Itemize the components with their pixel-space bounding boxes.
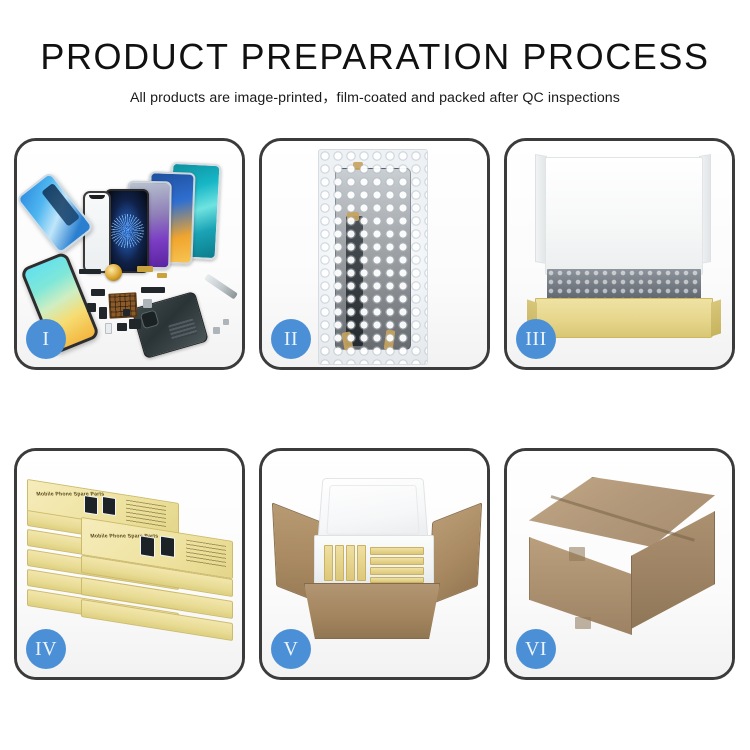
notch-icon	[89, 195, 105, 199]
page-title: PRODUCT PREPARATION PROCESS	[0, 38, 750, 76]
step-badge-2: II	[271, 319, 311, 359]
box-label-screen-thumb	[102, 496, 116, 516]
phone-screen-b-icon	[105, 189, 149, 273]
kraft-box-base-icon	[535, 298, 713, 338]
spare-part-icon	[137, 266, 153, 272]
spare-part-icon	[117, 323, 127, 331]
spare-part-icon	[129, 319, 141, 329]
box-label-screen-thumb	[140, 535, 155, 557]
boxes-inside-carton	[322, 543, 426, 583]
spare-part-icon	[141, 287, 165, 293]
inner-box-item	[370, 557, 424, 565]
spare-part-icon	[87, 303, 96, 312]
step-badge-1: I	[26, 319, 66, 359]
inner-box-item	[346, 545, 355, 581]
step-badge-6: VI	[516, 629, 556, 669]
spare-part-icon	[99, 307, 107, 319]
gray-bubble-foam-icon	[547, 269, 701, 301]
header: PRODUCT PREPARATION PROCESS All products…	[0, 0, 750, 107]
carton-front-wall-icon	[304, 583, 440, 639]
screw-icon	[213, 327, 220, 334]
inner-box-item	[370, 577, 424, 583]
styrofoam-lid-icon	[317, 478, 428, 543]
bubble-wrap-bag-icon	[318, 149, 428, 365]
inner-box-item	[335, 545, 344, 581]
process-step-grid: I II	[14, 138, 736, 680]
screw-icon	[223, 319, 229, 325]
step-card-6[interactable]: VI	[504, 448, 735, 680]
spare-part-icon	[157, 273, 167, 278]
spare-part-icon	[143, 299, 152, 308]
step-card-4[interactable]: Mobile Phone Spare Parts Mobile Phone Sp…	[14, 448, 245, 680]
step-badge-4: IV	[26, 629, 66, 669]
box-label-screen-thumb	[84, 495, 98, 515]
step-card-5[interactable]: V	[259, 448, 490, 680]
carton-tape-patch	[569, 547, 585, 561]
inner-box-item	[324, 545, 333, 581]
spare-part-icon	[79, 269, 101, 274]
inner-box-item	[370, 547, 424, 555]
spare-part-icon	[123, 309, 130, 316]
step-badge-3: III	[516, 319, 556, 359]
step-card-3[interactable]: III	[504, 138, 735, 370]
foam-lid-icon	[545, 157, 703, 275]
gold-coil-part-icon	[105, 264, 122, 281]
step-badge-5: V	[271, 629, 311, 669]
page-subtitle: All products are image-printed，film-coat…	[0, 87, 750, 107]
step-card-2[interactable]: II	[259, 138, 490, 370]
screwdriver-tool-icon	[204, 274, 238, 300]
product-preparation-process-infographic: PRODUCT PREPARATION PROCESS All products…	[0, 0, 750, 750]
inner-box-item	[357, 545, 366, 581]
carton-tape-patch	[575, 617, 591, 629]
box-label-screen-thumb	[160, 535, 175, 557]
spare-part-icon	[91, 289, 105, 296]
inner-box-item	[370, 567, 424, 575]
step-card-1[interactable]: I	[14, 138, 245, 370]
spare-part-icon	[105, 323, 112, 334]
bubble-texture	[319, 150, 427, 364]
